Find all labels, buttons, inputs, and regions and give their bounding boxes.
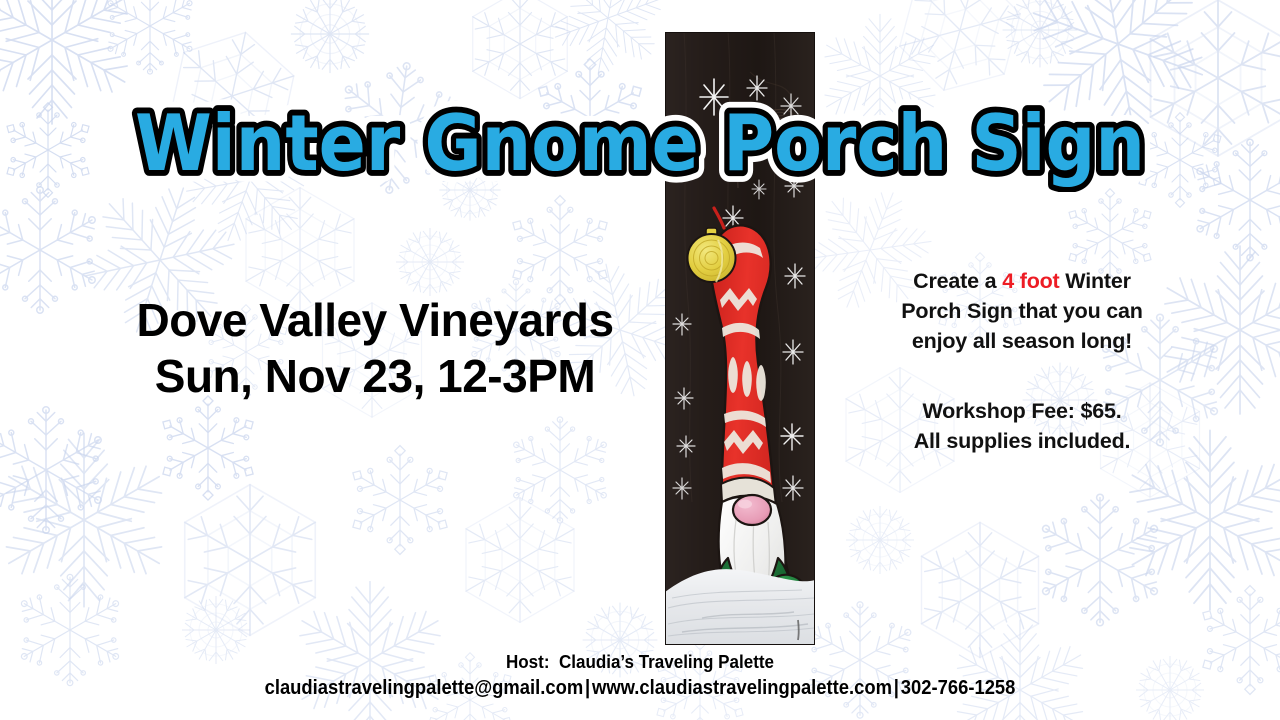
fee-text: Workshop Fee: $65. All supplies included…: [866, 396, 1178, 456]
fee-line1: Workshop Fee: $65.: [922, 399, 1121, 423]
title-artwork: Winter Gnome Porch Sign Winter Gnome Por…: [100, 96, 1180, 192]
host-label: Host:: [506, 651, 549, 672]
pitch-line2: Porch Sign that you can: [901, 299, 1143, 323]
event-venue: Dove Valley Vineyards: [110, 292, 640, 348]
pitch-line1-after: Winter: [1060, 269, 1131, 293]
page-title: Winter Gnome Porch Sign Winter Gnome Por…: [0, 96, 1280, 192]
contact-website[interactable]: www.claudiastravelingpalette.com: [592, 677, 892, 699]
workshop-info-block: Create a 4 foot Winter Porch Sign that y…: [866, 266, 1178, 456]
event-details-block: Dove Valley Vineyards Sun, Nov 23, 12-3P…: [110, 292, 640, 404]
contact-email[interactable]: claudiastravelingpalette@gmail.com: [265, 677, 584, 699]
flyer-canvas: Winter Gnome Porch Sign Winter Gnome Por…: [0, 0, 1280, 720]
pitch-line3: enjoy all season long!: [912, 329, 1132, 353]
host-name: Claudia’s Traveling Palette: [559, 651, 774, 672]
contact-separator-1: |: [583, 677, 592, 699]
host-line: Host: Claudia’s Traveling Palette: [51, 650, 1229, 674]
contact-line: claudiastravelingpalette@gmail.com|www.c…: [51, 675, 1229, 701]
fee-line2: All supplies included.: [914, 429, 1131, 453]
footer-contact-block: Host: Claudia’s Traveling Palette claudi…: [0, 650, 1280, 701]
pitch-highlight: 4 foot: [1002, 269, 1059, 293]
title-fill-layer: Winter Gnome Porch Sign: [135, 100, 1145, 189]
pitch-text: Create a 4 foot Winter Porch Sign that y…: [866, 266, 1178, 356]
contact-phone[interactable]: 302-766-1258: [901, 677, 1016, 699]
pitch-line1-before: Create a: [913, 269, 1002, 293]
event-datetime: Sun, Nov 23, 12-3PM: [110, 348, 640, 404]
